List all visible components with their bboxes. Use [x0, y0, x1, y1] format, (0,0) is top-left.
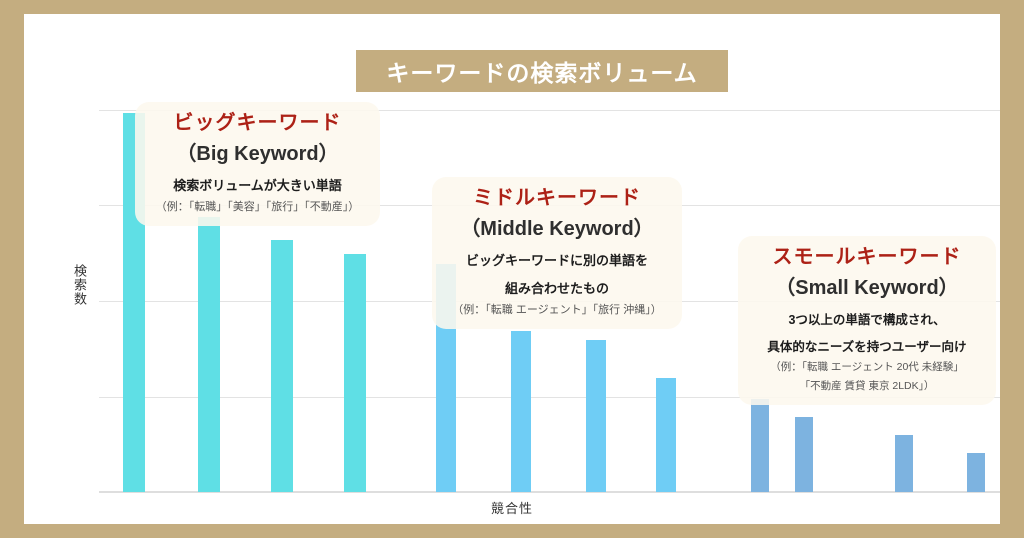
axis-baseline — [99, 491, 1000, 493]
bar-7 — [586, 340, 606, 492]
callout-small-heading-en: （Small Keyword） — [752, 274, 982, 302]
callout-middle-description-line2: 組み合わせたもの — [446, 280, 668, 299]
callout-small-heading-jp: スモールキーワード — [752, 244, 982, 271]
chart-title-banner: キーワードの検索ボリューム — [356, 50, 728, 92]
callout-big-keyword: ビッグキーワード （Big Keyword） 検索ボリュームが大きい単語 （例：… — [135, 102, 380, 226]
bar-2 — [198, 217, 220, 492]
callout-big-example: （例：「転職」「美容」「旅行」「不動産」） — [149, 200, 366, 216]
callout-middle-example: （例：「転職 エージェント」「旅行 沖縄」） — [446, 303, 668, 319]
x-axis-label: 競合性 — [24, 498, 1000, 517]
bar-10 — [795, 417, 813, 492]
chart-card: キーワードの検索ボリューム 検索数 競合性 ビッグキーワード （Big Keyw… — [24, 14, 1000, 524]
bar-11 — [895, 435, 913, 492]
bar-12 — [967, 453, 985, 492]
callout-middle-heading-en: （Middle Keyword） — [446, 215, 668, 243]
bar-3 — [271, 240, 293, 492]
bar-6 — [511, 331, 531, 492]
callout-small-example-line2: 「不動産 賃貸 東京 2LDK」） — [752, 379, 982, 394]
page-title: キーワードの検索ボリューム — [386, 54, 697, 88]
y-axis-label: 検索数 — [70, 264, 89, 306]
bar-4 — [344, 254, 366, 492]
callout-big-description: 検索ボリュームが大きい単語 — [149, 177, 366, 196]
chart-page: キーワードの検索ボリューム 検索数 競合性 ビッグキーワード （Big Keyw… — [0, 0, 1024, 538]
callout-middle-description-line1: ビッグキーワードに別の単語を — [446, 252, 668, 271]
callout-small-keyword: スモールキーワード （Small Keyword） 3つ以上の単語で構成され、 … — [738, 236, 996, 405]
callout-small-description-line2: 具体的なニーズを持つユーザー向け — [752, 338, 982, 356]
callout-big-heading-jp: ビッグキーワード — [149, 110, 366, 137]
bar-9 — [751, 399, 769, 492]
callout-middle-keyword: ミドルキーワード （Middle Keyword） ビッグキーワードに別の単語を… — [432, 177, 682, 329]
callout-small-description-line1: 3つ以上の単語で構成され、 — [752, 311, 982, 329]
callout-small-example-line1: （例：「転職 エージェント 20代 未経験」 — [752, 360, 982, 375]
bar-8 — [656, 378, 676, 492]
callout-big-heading-en: （Big Keyword） — [149, 140, 366, 168]
callout-middle-heading-jp: ミドルキーワード — [446, 185, 668, 212]
